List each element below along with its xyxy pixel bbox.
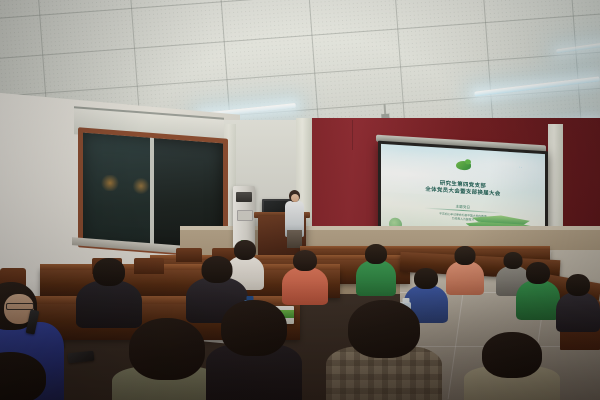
window-exterior-light-1 — [100, 175, 120, 191]
attendee-head — [348, 300, 420, 358]
presenter-at-podium — [284, 190, 306, 250]
attendee-head — [566, 274, 590, 296]
attendee-head — [455, 246, 476, 265]
lecture-hall-photo: 研究生第四党支部 全体党员大会暨支部换届大会 ᐧ ᐧ 研究生第四党支部 全体党员… — [0, 0, 600, 400]
attendee-head — [482, 332, 542, 378]
attendee-head — [414, 268, 438, 289]
slide-birds-icon: ᐧ ᐧ — [519, 164, 522, 169]
window-exterior-light-2 — [132, 178, 150, 194]
attendee-head — [0, 352, 46, 400]
presenter-face — [291, 194, 299, 202]
window-mullion — [150, 138, 154, 248]
smartphone-on-desk — [68, 351, 95, 364]
attendee-plaid-jacket — [326, 300, 442, 400]
attendee-body — [446, 261, 484, 295]
attendee-black-tee-left — [76, 258, 142, 324]
attendee-far-left-front — [0, 352, 46, 400]
desk-surface-4 — [300, 246, 550, 250]
attendee-head — [365, 244, 387, 264]
attendee-body — [356, 260, 396, 296]
attendee-cream-right — [464, 332, 560, 400]
attendee-body — [516, 280, 560, 320]
attendee-green-shirt — [356, 244, 396, 294]
attendee-dark-right — [556, 274, 600, 328]
attendee-peach-shirt — [446, 246, 484, 292]
attendee-head — [293, 250, 317, 271]
floor-air-conditioner — [233, 186, 255, 248]
glasses-icon — [6, 303, 34, 310]
attendee-body — [556, 292, 600, 332]
attendee-green-polo — [516, 262, 560, 316]
attendee-head — [93, 258, 125, 286]
attendee-head — [202, 256, 233, 283]
attendee-head — [129, 318, 205, 380]
slide-leaf-logo-icon — [454, 157, 472, 173]
wall-seam-1 — [352, 120, 353, 150]
attendee-black-front — [206, 300, 302, 400]
ac-vent — [237, 210, 253, 221]
attendee-head — [526, 262, 550, 284]
attendee-head — [221, 300, 287, 356]
ac-display-panel — [236, 192, 252, 202]
attendee-orange-shirt — [282, 250, 328, 302]
